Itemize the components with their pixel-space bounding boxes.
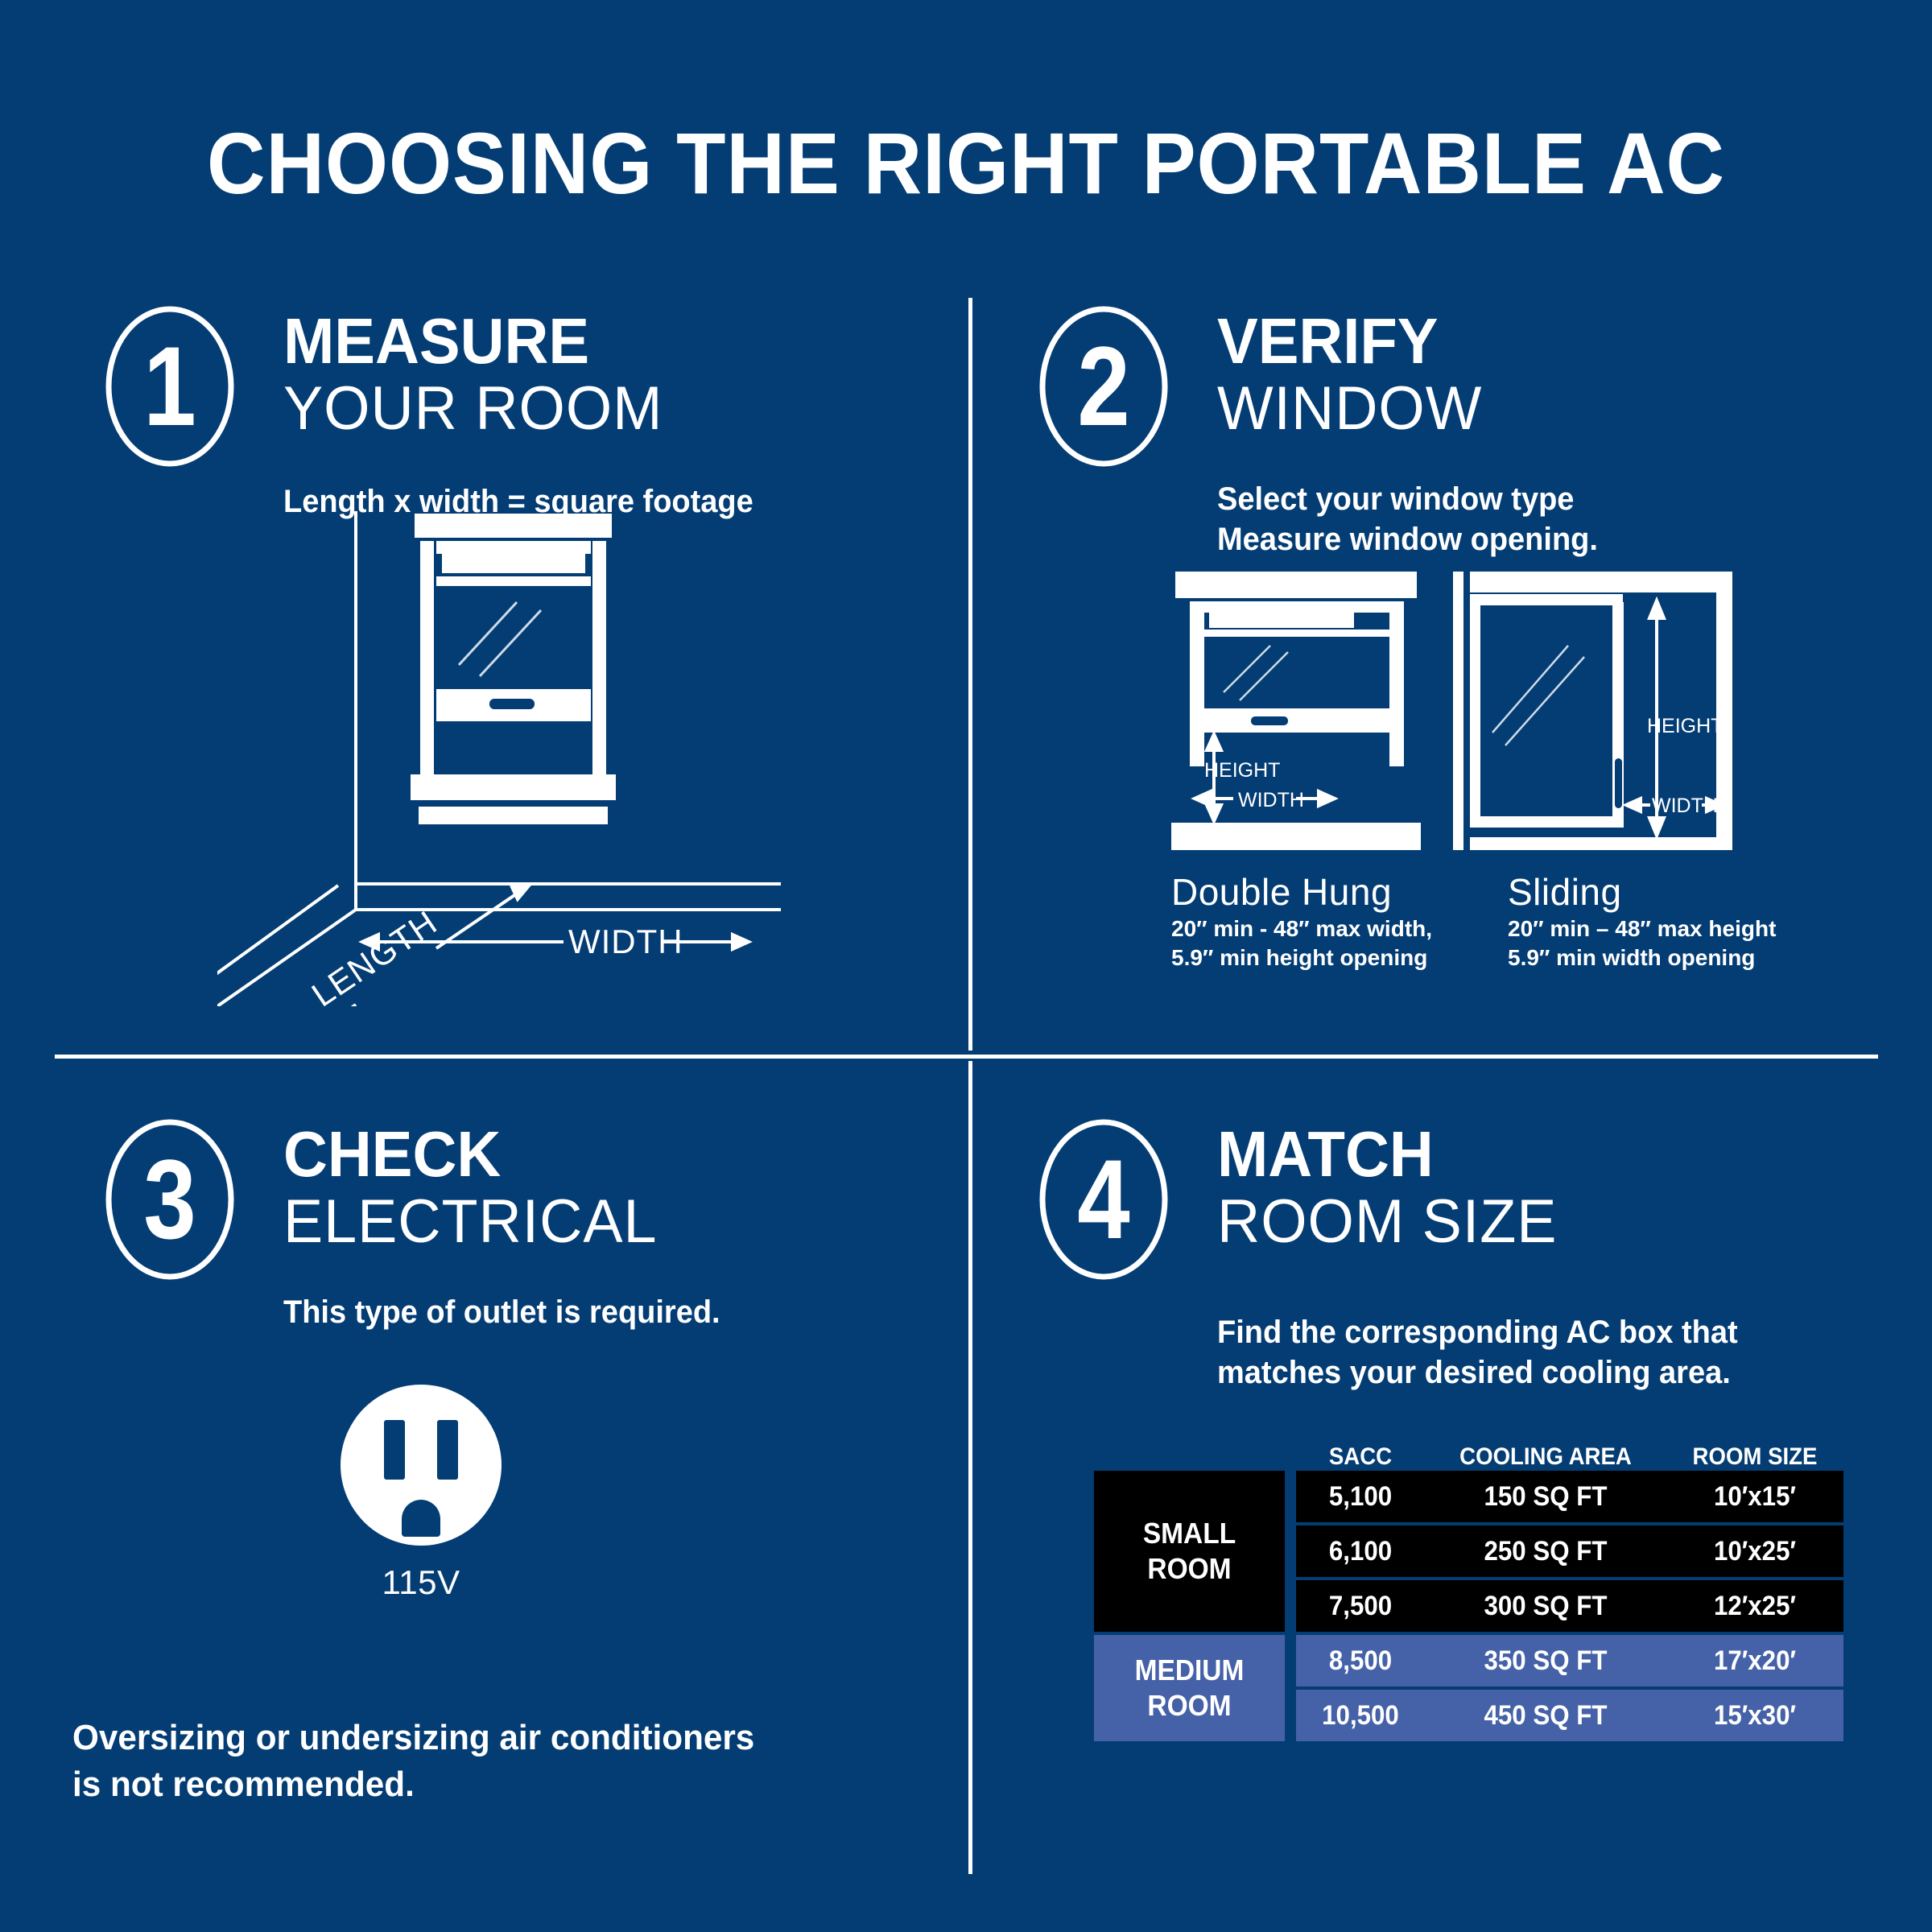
step-3-header: 3 CHECK ELECTRICAL [105, 1119, 958, 1280]
divider-vertical-top [968, 298, 972, 1051]
step-4-subtitle-line1: Find the corresponding AC box that [1217, 1312, 1738, 1352]
group-label-medium-line2: ROOM [1147, 1688, 1231, 1724]
group-label-small-line1: SMALL [1143, 1516, 1236, 1551]
cell-sacc: 7,500 [1301, 1591, 1419, 1622]
group-rows-medium-room: 8,500 350 SQ FT 17′x20′ 10,500 450 SQ FT… [1296, 1635, 1843, 1741]
step-1-titles: MEASURE YOUR ROOM [283, 308, 675, 443]
step-3-titles: CHECK ELECTRICAL [283, 1121, 669, 1256]
column-header-sacc: SACC [1301, 1443, 1419, 1471]
divider-horizontal [55, 1055, 1878, 1059]
window-spec-double-hung-line2: 5.9″ min height opening [1171, 943, 1509, 972]
step-3-check-electrical: 3 CHECK ELECTRICAL This type of outlet i… [105, 1119, 958, 1868]
table-group-medium-room: MEDIUM ROOM 8,500 350 SQ FT 17′x20′ 10,5… [1087, 1635, 1843, 1741]
window-caption-sliding: Sliding 20″ min – 48″ max height 5.9″ mi… [1508, 869, 1878, 972]
step-2-verify-window: 2 VERIFY WINDOW Select your window type … [1038, 306, 1892, 1038]
cell-cooling-area: 350 SQ FT [1435, 1645, 1657, 1677]
cell-room-size: 10′x25′ [1674, 1536, 1836, 1567]
ac-sizing-table: SACC COOLING AREA ROOM SIZE SMALL ROOM 5… [1087, 1429, 1843, 1744]
group-label-small-room: SMALL ROOM [1094, 1471, 1285, 1632]
table-header-row: SACC COOLING AREA ROOM SIZE [1087, 1429, 1843, 1471]
step-2-subtitle: Select your window type Measure window o… [1217, 479, 1618, 559]
step-1-number: 1 [115, 306, 225, 467]
length-label: LENGTH [305, 903, 444, 1006]
window-caption-double-hung: Double Hung 20″ min - 48″ max width, 5.9… [1171, 869, 1509, 972]
column-header-cooling-area: COOLING AREA [1435, 1443, 1657, 1471]
group-rows-small-room: 5,100 150 SQ FT 10′x15′ 6,100 250 SQ FT … [1296, 1471, 1843, 1632]
cell-sacc: 6,100 [1301, 1536, 1419, 1567]
cell-sacc: 10,500 [1301, 1700, 1419, 1732]
table-row: 5,100 150 SQ FT 10′x15′ [1296, 1471, 1843, 1522]
step-4-subtitle: Find the corresponding AC box that match… [1217, 1312, 1765, 1393]
step-1-header: 1 MEASURE YOUR ROOM [105, 306, 958, 467]
sliding-width-label: WIDTH [1652, 795, 1718, 817]
step-3-title-light: ELECTRICAL [283, 1188, 657, 1256]
window-name-double-hung: Double Hung [1171, 869, 1509, 914]
step-3-note: Oversizing or undersizing air conditione… [72, 1715, 884, 1808]
step-4-titles: MATCH ROOM SIZE [1217, 1121, 1567, 1256]
cell-room-size: 10′x15′ [1674, 1481, 1836, 1513]
infographic-page: CHOOSING THE RIGHT PORTABLE AC 1 MEASURE… [0, 0, 1932, 1932]
step-3-note-line2: is not recommended. [72, 1761, 884, 1808]
window-spec-sliding-line2: 5.9″ min width opening [1508, 943, 1878, 972]
cell-cooling-area: 250 SQ FT [1435, 1536, 1657, 1567]
cell-cooling-area: 150 SQ FT [1435, 1481, 1657, 1513]
cell-cooling-area: 300 SQ FT [1435, 1591, 1657, 1622]
step-2-titles: VERIFY WINDOW [1217, 308, 1490, 443]
wall-window-graphic [411, 514, 616, 824]
outlet-voltage-label: 115V [320, 1563, 522, 1602]
step-2-title-light: WINDOW [1217, 375, 1482, 443]
cell-sacc: 5,100 [1301, 1481, 1419, 1513]
cell-sacc: 8,500 [1301, 1645, 1419, 1677]
table-group-small-room: SMALL ROOM 5,100 150 SQ FT 10′x15′ 6,100… [1087, 1471, 1843, 1632]
cell-room-size: 17′x20′ [1674, 1645, 1836, 1677]
room-corner-diagram: WIDTH LENGTH [217, 507, 877, 1010]
step-1-title-bold: MEASURE [283, 308, 655, 375]
power-outlet-icon [341, 1385, 502, 1546]
cell-room-size: 15′x30′ [1674, 1700, 1836, 1732]
outlet-slot-left-icon [384, 1420, 405, 1480]
step-2-subtitle-line2: Measure window opening. [1217, 519, 1598, 559]
outlet-slot-right-icon [437, 1420, 458, 1480]
table-row: 7,500 300 SQ FT 12′x25′ [1296, 1580, 1843, 1632]
width-label: WIDTH [568, 923, 683, 960]
step-3-title-bold: CHECK [283, 1121, 650, 1188]
group-label-medium-room: MEDIUM ROOM [1094, 1635, 1285, 1741]
step-2-subtitle-line1: Select your window type [1217, 479, 1598, 519]
window-type-diagrams: HEIGHT WIDTH [1167, 572, 1763, 857]
step-1-title-light: YOUR ROOM [283, 375, 663, 443]
step-4-match-room-size: 4 MATCH ROOM SIZE Find the corresponding… [1038, 1119, 1892, 1868]
window-spec-sliding-line1: 20″ min – 48″ max height [1508, 914, 1878, 943]
table-row: 8,500 350 SQ FT 17′x20′ [1296, 1635, 1843, 1686]
table-row: 6,100 250 SQ FT 10′x25′ [1296, 1525, 1843, 1577]
step-1-measure-your-room: 1 MEASURE YOUR ROOM Length x width = squ… [105, 306, 958, 1038]
window-spec-double-hung-line1: 20″ min - 48″ max width, [1171, 914, 1509, 943]
step-3-subtitle: This type of outlet is required. [283, 1292, 720, 1332]
sliding-height-label: HEIGHT [1647, 715, 1723, 737]
group-label-small-line2: ROOM [1147, 1551, 1231, 1587]
step-4-number: 4 [1049, 1119, 1158, 1280]
step-3-number: 3 [115, 1119, 225, 1280]
divider-vertical-bottom [968, 1061, 972, 1874]
step-2-title-bold: VERIFY [1217, 308, 1476, 375]
page-title: CHOOSING THE RIGHT PORTABLE AC [68, 113, 1864, 213]
double-hung-height-label: HEIGHT [1204, 759, 1280, 782]
double-hung-width-label: WIDTH [1238, 789, 1304, 811]
group-label-medium-line1: MEDIUM [1135, 1653, 1245, 1688]
step-4-title-light: ROOM SIZE [1217, 1188, 1557, 1256]
step-3-note-line1: Oversizing or undersizing air conditione… [72, 1715, 884, 1761]
outlet-ground-pin-icon [402, 1500, 440, 1537]
window-name-sliding: Sliding [1508, 869, 1878, 914]
cell-room-size: 12′x25′ [1674, 1591, 1836, 1622]
step-2-number: 2 [1049, 306, 1158, 467]
column-header-room-size: ROOM SIZE [1674, 1443, 1836, 1471]
cell-cooling-area: 450 SQ FT [1435, 1700, 1657, 1732]
table-row: 10,500 450 SQ FT 15′x30′ [1296, 1690, 1843, 1741]
outlet-illustration: 115V [320, 1385, 522, 1602]
step-4-header: 4 MATCH ROOM SIZE [1038, 1119, 1892, 1280]
step-4-title-bold: MATCH [1217, 1121, 1550, 1188]
step-4-subtitle-line2: matches your desired cooling area. [1217, 1352, 1738, 1393]
step-2-header: 2 VERIFY WINDOW [1038, 306, 1892, 467]
